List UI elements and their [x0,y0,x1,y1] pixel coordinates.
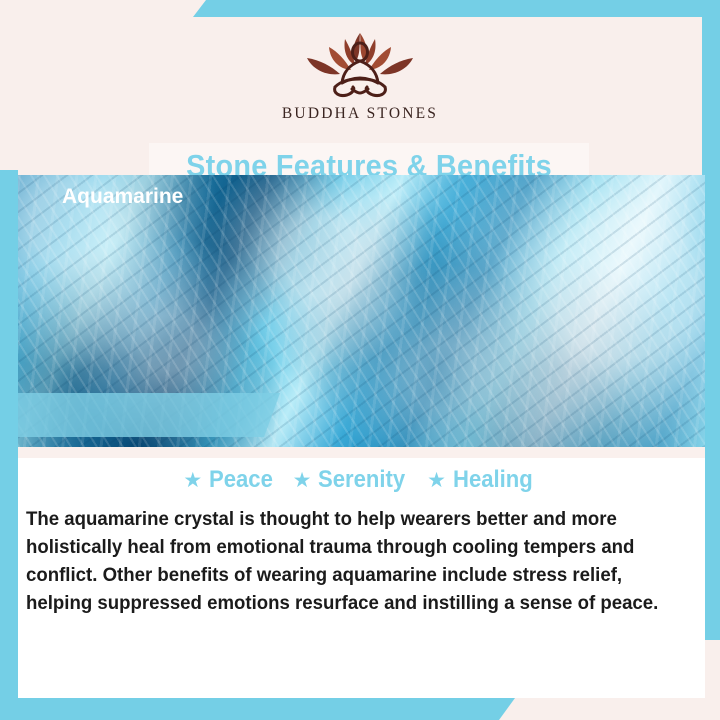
left-accent-strip [0,170,18,700]
hero-image: Aquamarine [18,175,705,447]
lotus-meditation-icon [295,25,425,103]
star-icon: ★ [293,470,312,491]
infographic-card: BUDDHA STONES Stone Features & Benefits … [0,0,720,720]
bottom-accent-band [0,698,515,720]
stone-name-label: Aquamarine [62,175,183,219]
benefit-item-peace: ★ Peace [183,466,278,494]
benefit-label: Peace [209,466,273,494]
brand-name: BUDDHA STONES [275,105,445,123]
benefit-label: Serenity [318,466,405,494]
benefit-label: Healing [453,466,533,494]
content-divider [18,447,705,458]
content-panel: ★ Peace ★ Serenity ★ Healing The aquamar… [18,458,705,698]
star-icon: ★ [427,470,446,491]
benefit-item-serenity: ★ Serenity [293,466,414,494]
top-accent-band [193,0,720,17]
benefit-item-healing: ★ Healing [427,466,540,494]
brand-logo: BUDDHA STONES [275,25,445,123]
benefits-row: ★ Peace ★ Serenity ★ Healing [18,458,705,494]
stone-name-banner [18,393,280,437]
description-text: The aquamarine crystal is thought to hel… [26,506,667,618]
star-icon: ★ [183,470,202,491]
header: BUDDHA STONES Stone Features & Benefits [18,17,702,175]
